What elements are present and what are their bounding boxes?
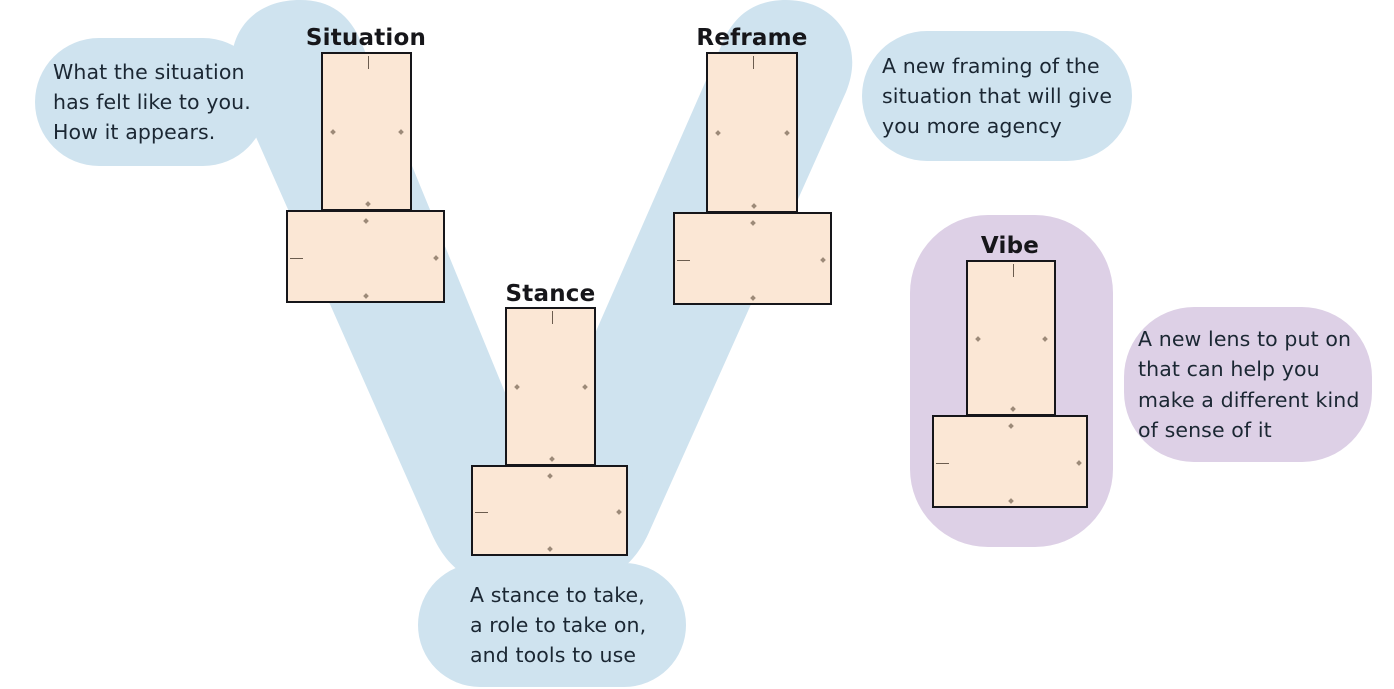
card-situation-wide[interactable] xyxy=(286,210,445,303)
handle-bottom-icon xyxy=(547,546,553,552)
card-vibe-wide[interactable] xyxy=(932,415,1088,508)
group-title-stance: Stance xyxy=(443,281,658,307)
handle-top-icon xyxy=(547,473,553,479)
callout-vibe: A new lens to put on that can help you m… xyxy=(1124,307,1372,462)
card-situation-tall[interactable] xyxy=(321,52,412,211)
handle-top-icon xyxy=(750,220,756,226)
card-reframe-tall[interactable] xyxy=(706,52,798,213)
tick-top-icon xyxy=(753,56,754,69)
handle-right-icon xyxy=(616,509,622,515)
tick-top-icon xyxy=(552,311,553,324)
callout-situation-text: What the situation has felt like to you.… xyxy=(53,57,251,147)
tick-left-icon xyxy=(936,463,949,464)
handle-bottom-icon xyxy=(750,295,756,301)
handle-top-icon xyxy=(1008,423,1014,429)
tick-left-icon xyxy=(677,260,690,261)
handle-bottom-icon xyxy=(365,201,371,207)
callout-vibe-text: A new lens to put on that can help you m… xyxy=(1138,324,1359,445)
card-stance-wide[interactable] xyxy=(471,465,628,556)
handle-right-icon xyxy=(582,384,588,390)
card-reframe-wide[interactable] xyxy=(673,212,832,305)
handle-bottom-icon xyxy=(1010,406,1016,412)
group-title-vibe: Vibe xyxy=(901,233,1119,259)
diagram-canvas: Situation What the situation has felt li… xyxy=(0,0,1394,689)
callout-stance: A stance to take, a role to take on, and… xyxy=(418,563,686,687)
tick-left-icon xyxy=(475,512,488,513)
callout-reframe: A new framing of the situation that will… xyxy=(862,31,1132,161)
handle-bottom-icon xyxy=(549,456,555,462)
handle-left-icon xyxy=(514,384,520,390)
handle-left-icon xyxy=(715,130,721,136)
tick-top-icon xyxy=(368,56,369,69)
handle-left-icon xyxy=(975,336,981,342)
tick-left-icon xyxy=(290,258,303,259)
card-vibe-tall[interactable] xyxy=(966,260,1056,416)
callout-stance-text: A stance to take, a role to take on, and… xyxy=(470,580,646,670)
handle-bottom-icon xyxy=(363,293,369,299)
group-title-situation: Situation xyxy=(256,25,476,51)
handle-right-icon xyxy=(398,129,404,135)
group-title-reframe: Reframe xyxy=(642,25,862,51)
handle-right-icon xyxy=(433,255,439,261)
callout-situation: What the situation has felt like to you.… xyxy=(35,38,267,166)
handle-bottom-icon xyxy=(1008,498,1014,504)
handle-right-icon xyxy=(820,257,826,263)
handle-left-icon xyxy=(330,129,336,135)
tick-top-icon xyxy=(1013,264,1014,277)
handle-right-icon xyxy=(1076,460,1082,466)
card-stance-tall[interactable] xyxy=(505,307,596,466)
handle-right-icon xyxy=(784,130,790,136)
handle-right-icon xyxy=(1042,336,1048,342)
callout-reframe-text: A new framing of the situation that will… xyxy=(882,51,1112,141)
handle-top-icon xyxy=(363,218,369,224)
handle-bottom-icon xyxy=(751,203,757,209)
